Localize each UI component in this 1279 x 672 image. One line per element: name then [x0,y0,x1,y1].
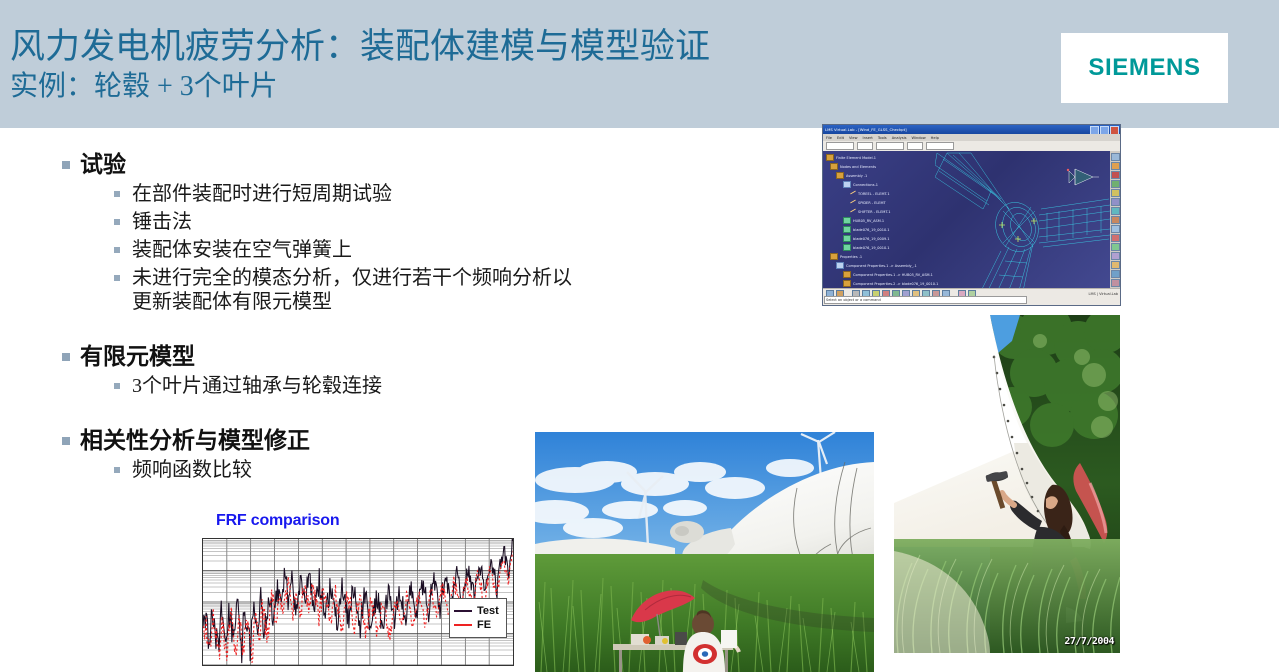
model-icon [826,154,834,161]
toolbar-icon[interactable] [1111,162,1120,170]
section-gap [60,314,760,342]
chart-title: FRF comparison [216,512,339,530]
tree-row[interactable]: TOREEL - ELEMT.1 [826,189,935,198]
tree-label: SHIFTER - ELEMT.1 [858,209,891,214]
photo-wind-turbine-blade-field-test [535,432,874,672]
bullet-item: 3个叶片通过轴承与轮毂连接 [60,372,760,400]
legend-entry: FE [454,618,502,632]
siemens-logo: SIEMENS [1061,33,1228,103]
bullet-item: 未进行完全的模态分析，仅进行若干个频响分析以 [60,264,760,290]
menu-item[interactable]: Edit [837,136,844,140]
section-heading-1: 试验 [60,150,760,180]
tree-row[interactable]: Component Properties.1 -> Assembly_.1 [826,261,935,270]
cae-application-screenshot: LMS Virtual.Lab - [Wind_FE_GLSS_Checkpt]… [822,124,1121,306]
section-gap [60,400,760,426]
tree-row[interactable]: SHIFTER - ELEMT.1 [826,207,935,216]
toolbar-icon[interactable] [1111,234,1120,242]
fe-wireframe-graphic [935,151,1110,289]
photo-hammer-impact-test: 27/7/2004 [894,315,1120,653]
cae-title-bar: LMS Virtual.Lab - [Wind_FE_GLSS_Checkpt] [823,125,1120,134]
legend-label: Test [477,605,499,617]
tree-row[interactable]: blade076_19_0010.1 [826,225,935,234]
slide-title-primary: 风力发电机疲劳分析：装配体建模与模型验证 [10,26,1010,68]
toolbar-icon[interactable] [1111,225,1120,233]
tree-label: Component Properties.2 -> blade076_19_00… [853,281,938,286]
cae-title-text: LMS Virtual.Lab - [Wind_FE_GLSS_Checkpt] [825,127,907,132]
toolbar-icon[interactable] [1111,279,1120,287]
tree-row[interactable]: Component Properties.2 -> blade076_19_00… [826,279,935,288]
node-icon [843,226,851,233]
doc-icon [843,181,851,188]
bullet-item: 在部件装配时进行短周期试验 [60,180,760,208]
pen-icon [850,200,856,205]
tree-row[interactable]: Assembly .1 [826,171,935,180]
siemens-logo-text: SIEMENS [1088,54,1200,82]
chart-legend: Test FE [449,598,507,638]
cae-right-toolbar[interactable] [1110,151,1120,291]
legend-swatch-fe [454,624,472,626]
folder-icon [836,172,844,179]
tree-row[interactable]: Nodes and Elements [826,162,935,171]
photo-timestamp: 27/7/2004 [1064,636,1114,647]
tree-label: Component Properties.1 -> Assembly_.1 [846,263,917,268]
slide-title-block: 风力发电机疲劳分析：装配体建模与模型验证 实例：轮毂 + 3个叶片 [10,26,1010,106]
tree-row[interactable]: Finite Element Model.1 [826,153,935,162]
tree-row[interactable]: HUB05_RV_ASM.1 [826,216,935,225]
cae-workspace: Finite Element Model.1 Nodes and Element… [823,151,1120,289]
tree-row[interactable]: blade076_19_0009.1 [826,234,935,243]
tree-label: TOREEL - ELEMT.1 [858,191,890,196]
field-test-image [535,432,874,672]
tree-label: Connections.1 [853,182,878,187]
cae-menu-bar[interactable]: File Edit View Insert Tools Analysis Win… [823,134,1120,141]
tree-row[interactable]: SPIDER - ELEMT [826,198,935,207]
pen-icon [850,209,856,214]
folder-icon [830,253,838,260]
toolbar-icon[interactable] [1111,270,1120,278]
toolbar-dropdown[interactable] [907,142,923,150]
cae-status-brand: LMS | Virtual.Lab [1089,292,1118,296]
frf-comparison-chart: FRF comparison Test FE [196,512,520,672]
node-icon [843,217,851,224]
fe-model-wireframe-viewport[interactable] [935,151,1110,289]
slide-title-secondary: 实例：轮毂 + 3个叶片 [10,68,1010,106]
legend-swatch-test [454,610,472,612]
menu-item[interactable]: View [849,136,858,140]
bullet-item-continuation: 更新装配体有限元模型 [60,290,760,314]
hammer-test-image [894,315,1120,653]
tree-row[interactable]: blade076_19_0010.1 [826,243,935,252]
tree-label: blade076_19_0009.1 [853,236,890,241]
folder-icon [843,271,851,278]
tree-label: Component Properties.1 -> HUB05_RV_ASM.1 [853,272,933,277]
toolbar-icon[interactable] [1111,216,1120,224]
menu-item[interactable]: File [826,136,832,140]
toolbar-dropdown[interactable] [926,142,954,150]
toolbar-icon[interactable] [1111,171,1120,179]
cae-status-bar: Select an object or a command LMS | Virt… [823,288,1120,305]
toolbar-icon[interactable] [1111,261,1120,269]
tree-row[interactable]: Component Properties.1 -> HUB05_RV_ASM.1 [826,270,935,279]
toolbar-dropdown[interactable] [876,142,904,150]
toolbar-icon[interactable] [1111,180,1120,188]
menu-item[interactable]: Analysis [892,136,907,140]
tree-label: HUB05_RV_ASM.1 [853,218,884,223]
menu-item[interactable]: Insert [863,136,873,140]
pen-icon [850,191,856,196]
tree-label: Assembly .1 [846,173,867,178]
cae-status-text: Select an object or a command [824,296,1027,304]
toolbar-icon[interactable] [1111,198,1120,206]
tree-label: SPIDER - ELEMT [858,200,886,205]
toolbar-icon[interactable] [1111,189,1120,197]
legend-entry: Test [454,604,502,618]
cae-model-tree[interactable]: Finite Element Model.1 Nodes and Element… [823,151,935,289]
toolbar-icon[interactable] [1111,153,1120,161]
tree-label: blade076_19_0010.1 [853,227,890,232]
doc-icon [836,262,844,269]
menu-item[interactable]: Tools [878,136,887,140]
menu-item[interactable]: Window [912,136,926,140]
tree-label: Finite Element Model.1 [836,155,876,160]
folder-icon [830,163,838,170]
tree-label: blade076_19_0010.1 [853,245,890,250]
tree-row[interactable]: Properties .1 [826,252,935,261]
tree-label: Nodes and Elements [840,164,876,169]
toolbar-dropdown[interactable] [826,142,854,150]
node-icon [843,244,851,251]
tree-row[interactable]: Connections.1 [826,180,935,189]
toolbar-icon[interactable] [1111,243,1120,251]
bullet-item: 锤击法 [60,208,760,236]
toolbar-icon[interactable] [1111,207,1120,215]
bullet-item: 装配体安装在空气弹簧上 [60,236,760,264]
menu-item[interactable]: Help [931,136,939,140]
legend-label: FE [477,619,491,631]
view-compass-icon [1067,169,1099,185]
node-icon [843,235,851,242]
section-heading-2: 有限元模型 [60,342,760,372]
tree-label: Properties .1 [840,254,862,259]
toolbar-dropdown[interactable] [857,142,873,150]
folder-icon [843,280,851,287]
toolbar-icon[interactable] [1111,252,1120,260]
